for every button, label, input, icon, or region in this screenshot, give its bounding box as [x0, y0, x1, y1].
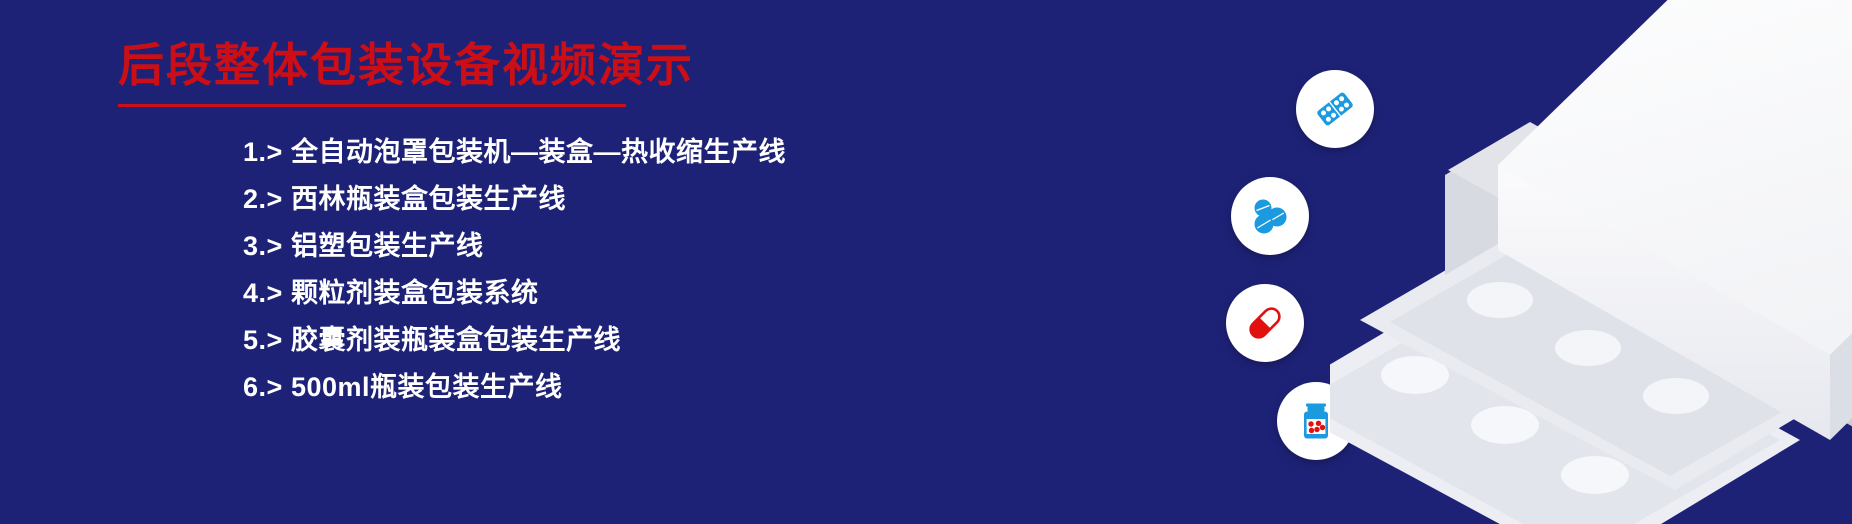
list-item[interactable]: 4.> 颗粒剂装盒包装系统	[243, 271, 963, 318]
list-item[interactable]: 1.> 全自动泡罩包装机—装盒—热收缩生产线	[243, 130, 963, 177]
list-item[interactable]: 3.> 铝塑包装生产线	[243, 224, 963, 271]
list-item-index: 1.>	[243, 137, 291, 168]
capsule-icon	[1226, 284, 1304, 362]
list-item-index: 2.>	[243, 184, 291, 215]
product-list: 1.> 全自动泡罩包装机—装盒—热收缩生产线 2.> 西林瓶装盒包装生产线 3.…	[243, 130, 963, 412]
list-item[interactable]: 6.> 500ml瓶装包装生产线	[243, 365, 963, 412]
list-item-label: 500ml瓶装包装生产线	[291, 365, 563, 404]
content-area: 后段整体包装设备视频演示 1.> 全自动泡罩包装机—装盒—热收缩生产线 2.> …	[0, 0, 1000, 524]
promo-banner: 后段整体包装设备视频演示 1.> 全自动泡罩包装机—装盒—热收缩生产线 2.> …	[0, 0, 1852, 524]
list-item-label: 胶囊剂装瓶装盒包装生产线	[291, 318, 621, 357]
title-underline	[118, 104, 626, 107]
list-item-label: 西林瓶装盒包装生产线	[291, 177, 566, 216]
tablets-icon	[1231, 177, 1309, 255]
list-item-index: 3.>	[243, 231, 291, 262]
page-title: 后段整体包装设备视频演示	[118, 40, 694, 91]
carton-blister-3d	[1330, 0, 1852, 524]
list-item-label: 铝塑包装生产线	[291, 224, 484, 263]
list-item-label: 颗粒剂装盒包装系统	[291, 271, 539, 310]
list-item[interactable]: 5.> 胶囊剂装瓶装盒包装生产线	[243, 318, 963, 365]
list-item[interactable]: 2.> 西林瓶装盒包装生产线	[243, 177, 963, 224]
list-item-index: 6.>	[243, 372, 291, 403]
list-item-index: 5.>	[243, 325, 291, 356]
list-item-label: 全自动泡罩包装机—装盒—热收缩生产线	[291, 130, 786, 169]
list-item-index: 4.>	[243, 278, 291, 309]
